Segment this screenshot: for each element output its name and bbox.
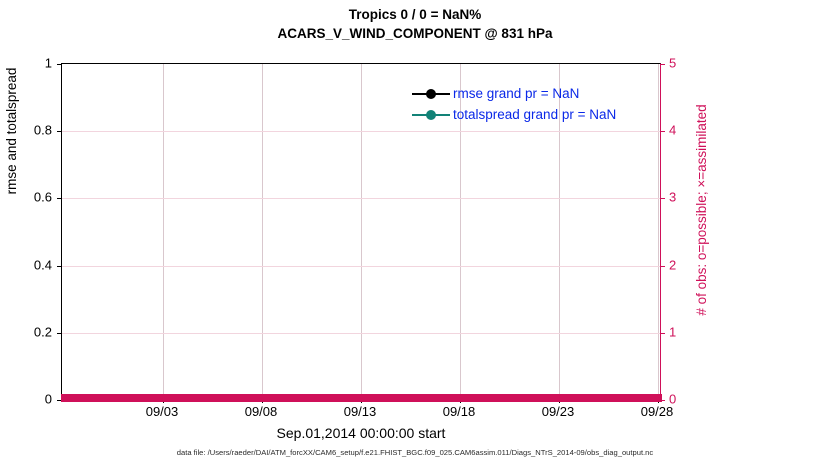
chart-title: Tropics 0 / 0 = NaN% [0,6,830,24]
gridline-vertical [262,64,263,398]
data-file-path: data file: /Users/raeder/DAI/ATM_forcXX/… [0,448,830,457]
gridline-horizontal [62,266,660,267]
legend-label-rmse: rmse grand pr = NaN [453,86,579,101]
y-tick-mark-right [660,400,665,401]
legend-swatch-totalspread [412,108,450,122]
x-tick-label: 09/13 [344,404,377,419]
legend-label-totalspread: totalspread grand pr = NaN [453,107,616,122]
y-tick-label-left: 0 [0,392,52,407]
chart-title-block: Tropics 0 / 0 = NaN% ACARS_V_WIND_COMPON… [0,6,830,44]
x-tick-label: 09/08 [245,404,278,419]
gridline-horizontal [62,333,660,334]
y-axis-left-title: rmse and totalspread [4,31,19,231]
y-tick-mark-left [57,131,62,132]
y-tick-mark-left [57,333,62,334]
x-tick-mark [460,398,461,403]
y-tick-mark-right [660,333,665,334]
x-tick-mark [361,398,362,403]
y-tick-mark-left [57,266,62,267]
x-tick-mark [262,398,263,403]
gridline-horizontal [62,198,660,199]
legend-swatch-rmse [412,87,450,101]
y-tick-mark-left [57,198,62,199]
y-tick-label-right: 4 [669,123,676,138]
y-tick-mark-left [57,400,62,401]
x-tick-label: 09/03 [146,404,179,419]
gridline-vertical [361,64,362,398]
y-axis-right-title: # of obs: o=possible; ×=assimilated [694,45,709,375]
x-tick-label: 09/23 [542,404,575,419]
x-tick-mark [163,398,164,403]
x-tick-mark [658,398,659,403]
x-tick-label: 09/28 [641,404,674,419]
y-tick-label-left: 0.2 [0,324,52,339]
y-tick-mark-right [660,198,665,199]
y-tick-label-right: 3 [669,190,676,205]
y-tick-label-left: 0.4 [0,257,52,272]
y-tick-label-right: 1 [669,324,676,339]
legend-item-rmse[interactable]: rmse grand pr = NaN [412,83,662,104]
y-tick-label-right: 5 [669,56,676,71]
legend-item-totalspread[interactable]: totalspread grand pr = NaN [412,104,662,125]
chart-subtitle: ACARS_V_WIND_COMPONENT @ 831 hPa [0,24,830,44]
x-axis-title: Sep.01,2014 00:00:00 start [61,425,661,441]
y-tick-mark-right [660,64,665,65]
plot-area: rmse grand pr = NaN totalspread grand pr… [61,63,661,399]
y-tick-mark-right [660,266,665,267]
chart-canvas: Tropics 0 / 0 = NaN% ACARS_V_WIND_COMPON… [0,0,830,470]
x-tick-label: 09/18 [443,404,476,419]
y-tick-mark-left [57,64,62,65]
y-tick-label-right: 2 [669,257,676,272]
gridline-vertical [163,64,164,398]
gridline-horizontal [62,131,660,132]
y-tick-mark-right [660,131,665,132]
legend: rmse grand pr = NaN totalspread grand pr… [412,83,662,125]
x-tick-mark [559,398,560,403]
